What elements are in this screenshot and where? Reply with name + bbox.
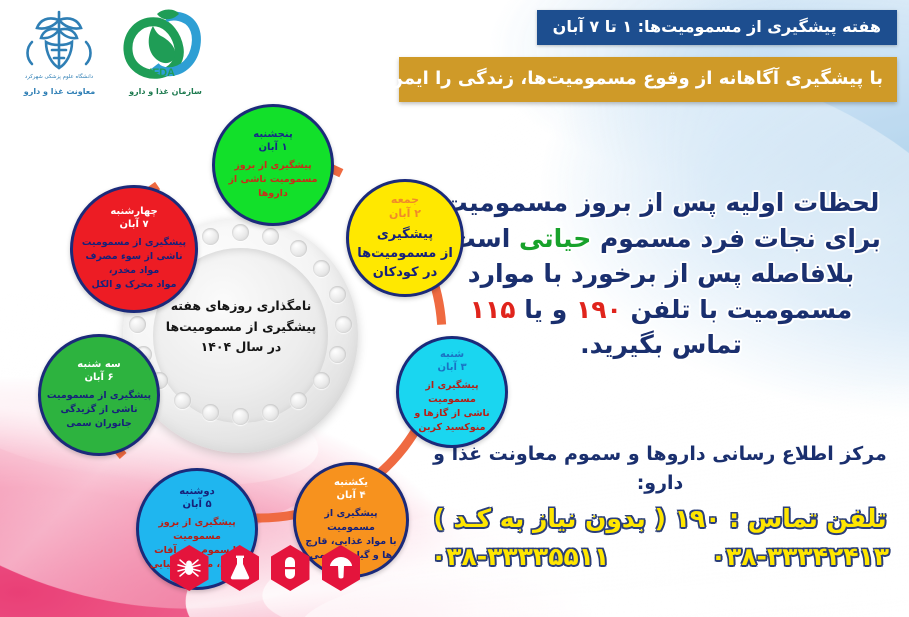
- node-desc-line: مواد محرک و الکل: [77, 278, 191, 292]
- hazard-icon-bar: [170, 545, 360, 597]
- node-desc-wednesday: پیشگیری از مسمومیت ناشی از سوء مصرف مواد…: [77, 236, 191, 291]
- hub-title-line-3: در سال ۱۴۰۴: [141, 337, 341, 358]
- main-message-line-4: مسمومیت با تلفن ۱۹۰ و یا ۱۱۵: [427, 292, 895, 328]
- node-desc-line: پیشگیری از مسمومیت: [77, 236, 191, 250]
- node-desc-line: پیشگیری: [353, 226, 457, 245]
- wheel-hub-title: نامگذاری روزهای هفته پیشگیری از مسمومیت‌…: [141, 296, 341, 358]
- flask-icon: [228, 555, 252, 581]
- hub-bolt: [262, 228, 279, 245]
- main-message-block: لحظات اولیه پس از بروز مسمومیت برای نجات…: [427, 185, 895, 363]
- node-date-saturday: ۳ آبان: [437, 362, 466, 375]
- hub-bolt: [313, 260, 330, 277]
- node-desc-line: ناشی از سوء مصرف مواد مخدر،: [77, 250, 191, 278]
- highlight-vital: حیاتی: [519, 224, 591, 253]
- hub-bolt: [290, 240, 307, 257]
- node-day-tuesday: سه شنبه: [77, 359, 120, 372]
- main-message-line-5: تماس بگیرید.: [427, 327, 895, 363]
- node-desc-line: مسمومیت ناشی از داروها: [219, 173, 327, 201]
- hazard-hex-flask: [221, 545, 260, 591]
- contact-block: مرکز اطلاع رسانی داروها و سموم معاونت غذ…: [425, 440, 895, 576]
- node-desc-line: پیشگیری از بروز مسمومیت: [143, 516, 251, 544]
- node-date-sunday: ۴ آبان: [336, 490, 365, 503]
- contact-landline-left: ۰۳۸-۳۳۳۴۲۴۱۳: [711, 539, 889, 575]
- node-desc-line: پیشگیری از مسمومیت: [403, 379, 501, 407]
- node-day-thursday: پنجشنبه: [253, 129, 292, 142]
- main-message-line-2: برای نجات فرد مسموم حیاتی است.: [427, 221, 895, 257]
- hub-bolt: [174, 392, 191, 409]
- mushroom-icon: [329, 555, 353, 581]
- node-desc-line: پیشگیری از مسمومیت: [45, 389, 153, 403]
- hazard-hex-spider: [170, 545, 209, 591]
- hub-bolt: [313, 372, 330, 389]
- hub-bolt: [232, 408, 249, 425]
- node-desc-line: از مسمومیت‌ها در کودکان: [353, 245, 457, 283]
- node-desc-line: پیشگیری از مسمومیت: [300, 507, 402, 535]
- main-message-line-1: لحظات اولیه پس از بروز مسمومیت: [427, 185, 895, 221]
- wheel-node-saturday[interactable]: شنبه ۳ آبان پیشگیری از مسمومیت ناشی از گ…: [396, 336, 508, 448]
- node-date-monday: ۵ آبان: [182, 499, 211, 512]
- hub-bolt: [290, 392, 307, 409]
- node-day-friday: جمعه: [391, 193, 419, 207]
- contact-center-name: مرکز اطلاع رسانی داروها و سموم معاونت غذ…: [425, 440, 895, 497]
- week-title-banner: هفته پیشگیری از مسمومیت‌ها: ۱ تا ۷ آبان: [537, 10, 897, 45]
- capsule-icon: [279, 555, 301, 581]
- node-desc-line: ناشی از گازها و منوکسید کربن: [403, 407, 501, 435]
- node-day-sunday: یکشنبه: [334, 477, 368, 490]
- hub-bolt: [202, 404, 219, 421]
- node-date-thursday: ۱ آبان: [258, 142, 287, 155]
- node-date-wednesday: ۷ آبان: [119, 219, 148, 232]
- contact-landlines: ۰۳۸-۳۳۳۴۲۴۱۳ ۰۳۸-۳۳۳۳۵۵۱۱: [425, 539, 895, 575]
- node-desc-line: پیشگیری از بروز: [219, 159, 327, 173]
- wheel-node-friday[interactable]: جمعه ۲ آبان پیشگیری از مسمومیت‌ها در کود…: [346, 179, 464, 297]
- node-desc-saturday: پیشگیری از مسمومیت ناشی از گازها و منوکس…: [403, 379, 501, 434]
- hazard-hex-mushroom: [322, 545, 361, 591]
- node-day-monday: دوشنبه: [179, 486, 214, 499]
- poster-canvas: IFDA سازمان غذا و دارو دانشگاه علو: [0, 0, 909, 617]
- wheel-node-thursday[interactable]: پنجشنبه ۱ آبان پیشگیری از بروز مسمومیت ن…: [212, 104, 334, 226]
- hub-title-line-2: پیشگیری از مسمومیت‌ها: [141, 317, 341, 338]
- week-wheel-diagram: نامگذاری روزهای هفته پیشگیری از مسمومیت‌…: [8, 48, 478, 543]
- contact-landline-right: ۰۳۸-۳۳۳۳۵۵۱۱: [431, 539, 609, 575]
- hub-bolt: [232, 224, 249, 241]
- node-desc-friday: پیشگیری از مسمومیت‌ها در کودکان: [353, 226, 457, 283]
- highlight-phone-190: ۱۹۰: [576, 295, 622, 324]
- contact-phone-190: تلفن تماس : ۱۹۰ ( بدون نیاز به کـد ): [425, 501, 895, 537]
- wheel-node-tuesday[interactable]: سه شنبه ۶ آبان پیشگیری از مسمومیت ناشی ا…: [38, 334, 160, 456]
- hub-bolt: [262, 404, 279, 421]
- node-day-saturday: شنبه: [440, 349, 464, 362]
- hub-bolt: [202, 228, 219, 245]
- node-day-wednesday: چهارشنبه: [110, 206, 157, 219]
- node-date-tuesday: ۶ آبان: [84, 372, 113, 385]
- node-desc-tuesday: پیشگیری از مسمومیت ناشی از گزیدگی جانورا…: [45, 389, 153, 430]
- node-desc-thursday: پیشگیری از بروز مسمومیت ناشی از داروها: [219, 159, 327, 200]
- hazard-hex-capsule: [271, 545, 310, 591]
- node-desc-line: ناشی از گزیدگی جانوران سمی: [45, 403, 153, 431]
- main-message-line-3: بلافاصله پس از برخورد با موارد: [427, 256, 895, 292]
- spider-icon: [176, 555, 202, 581]
- wheel-node-wednesday[interactable]: چهارشنبه ۷ آبان پیشگیری از مسمومیت ناشی …: [70, 185, 198, 313]
- node-date-friday: ۲ آبان: [389, 207, 421, 221]
